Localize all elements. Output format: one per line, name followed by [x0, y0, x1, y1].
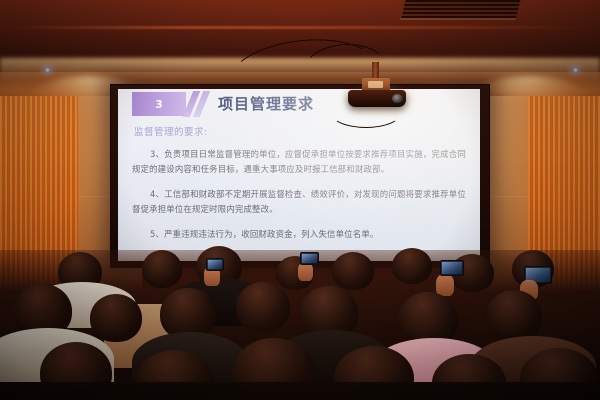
smartphone-recording-left [206, 258, 224, 271]
phone-screen [208, 260, 222, 269]
phone-screen [442, 262, 462, 274]
slide-paragraph-4: 4、工信部和财政部不定期开展监督检查、绩效评价，对发现的问题将要求推荐单位督促承… [132, 187, 466, 217]
audience-head [392, 248, 432, 284]
ceiling-downlight-left [44, 68, 51, 72]
front-row-shoulders [0, 382, 600, 400]
slide-paragraph-3: 3、负责项目日常监督管理的单位，应督促承担单位按要求推荐项目实施，完成合同规定的… [132, 147, 466, 177]
smartphone-recording-right [440, 260, 464, 276]
phone-screen [302, 254, 317, 263]
smartphone-recording-center [300, 252, 319, 265]
presentation-photo: 3 项目管理要求 监督管理的要求: 3、负责项目日常监督管理的单位，应督促承担单… [0, 0, 600, 400]
slide-number-badge: 3 [132, 92, 186, 116]
audience-head [142, 250, 182, 288]
slide-subtitle: 监督管理的要求: [134, 124, 208, 138]
projector-label [368, 81, 383, 88]
projector-lens-icon [392, 94, 403, 103]
ceiling-seam [0, 26, 600, 29]
audience-head [486, 290, 542, 342]
audience-head [236, 282, 290, 332]
audience-head [90, 294, 142, 342]
slide-body: 监督管理的要求: 3、负责项目日常监督管理的单位，应督促承担单位按要求推荐项目实… [118, 119, 480, 261]
projection-screen: 3 项目管理要求 监督管理的要求: 3、负责项目日常监督管理的单位，应督促承担单… [118, 89, 480, 261]
slide-paragraph-5: 5、严重违规违法行为，收回财政资金，列入失信单位名单。 [132, 227, 466, 242]
audience-hand [436, 274, 454, 296]
ceiling-downlight-right [572, 68, 579, 72]
audience-area [0, 250, 600, 400]
air-vent-icon [400, 0, 521, 20]
slide-number-label: 3 [132, 92, 186, 116]
audience-head [332, 252, 374, 290]
